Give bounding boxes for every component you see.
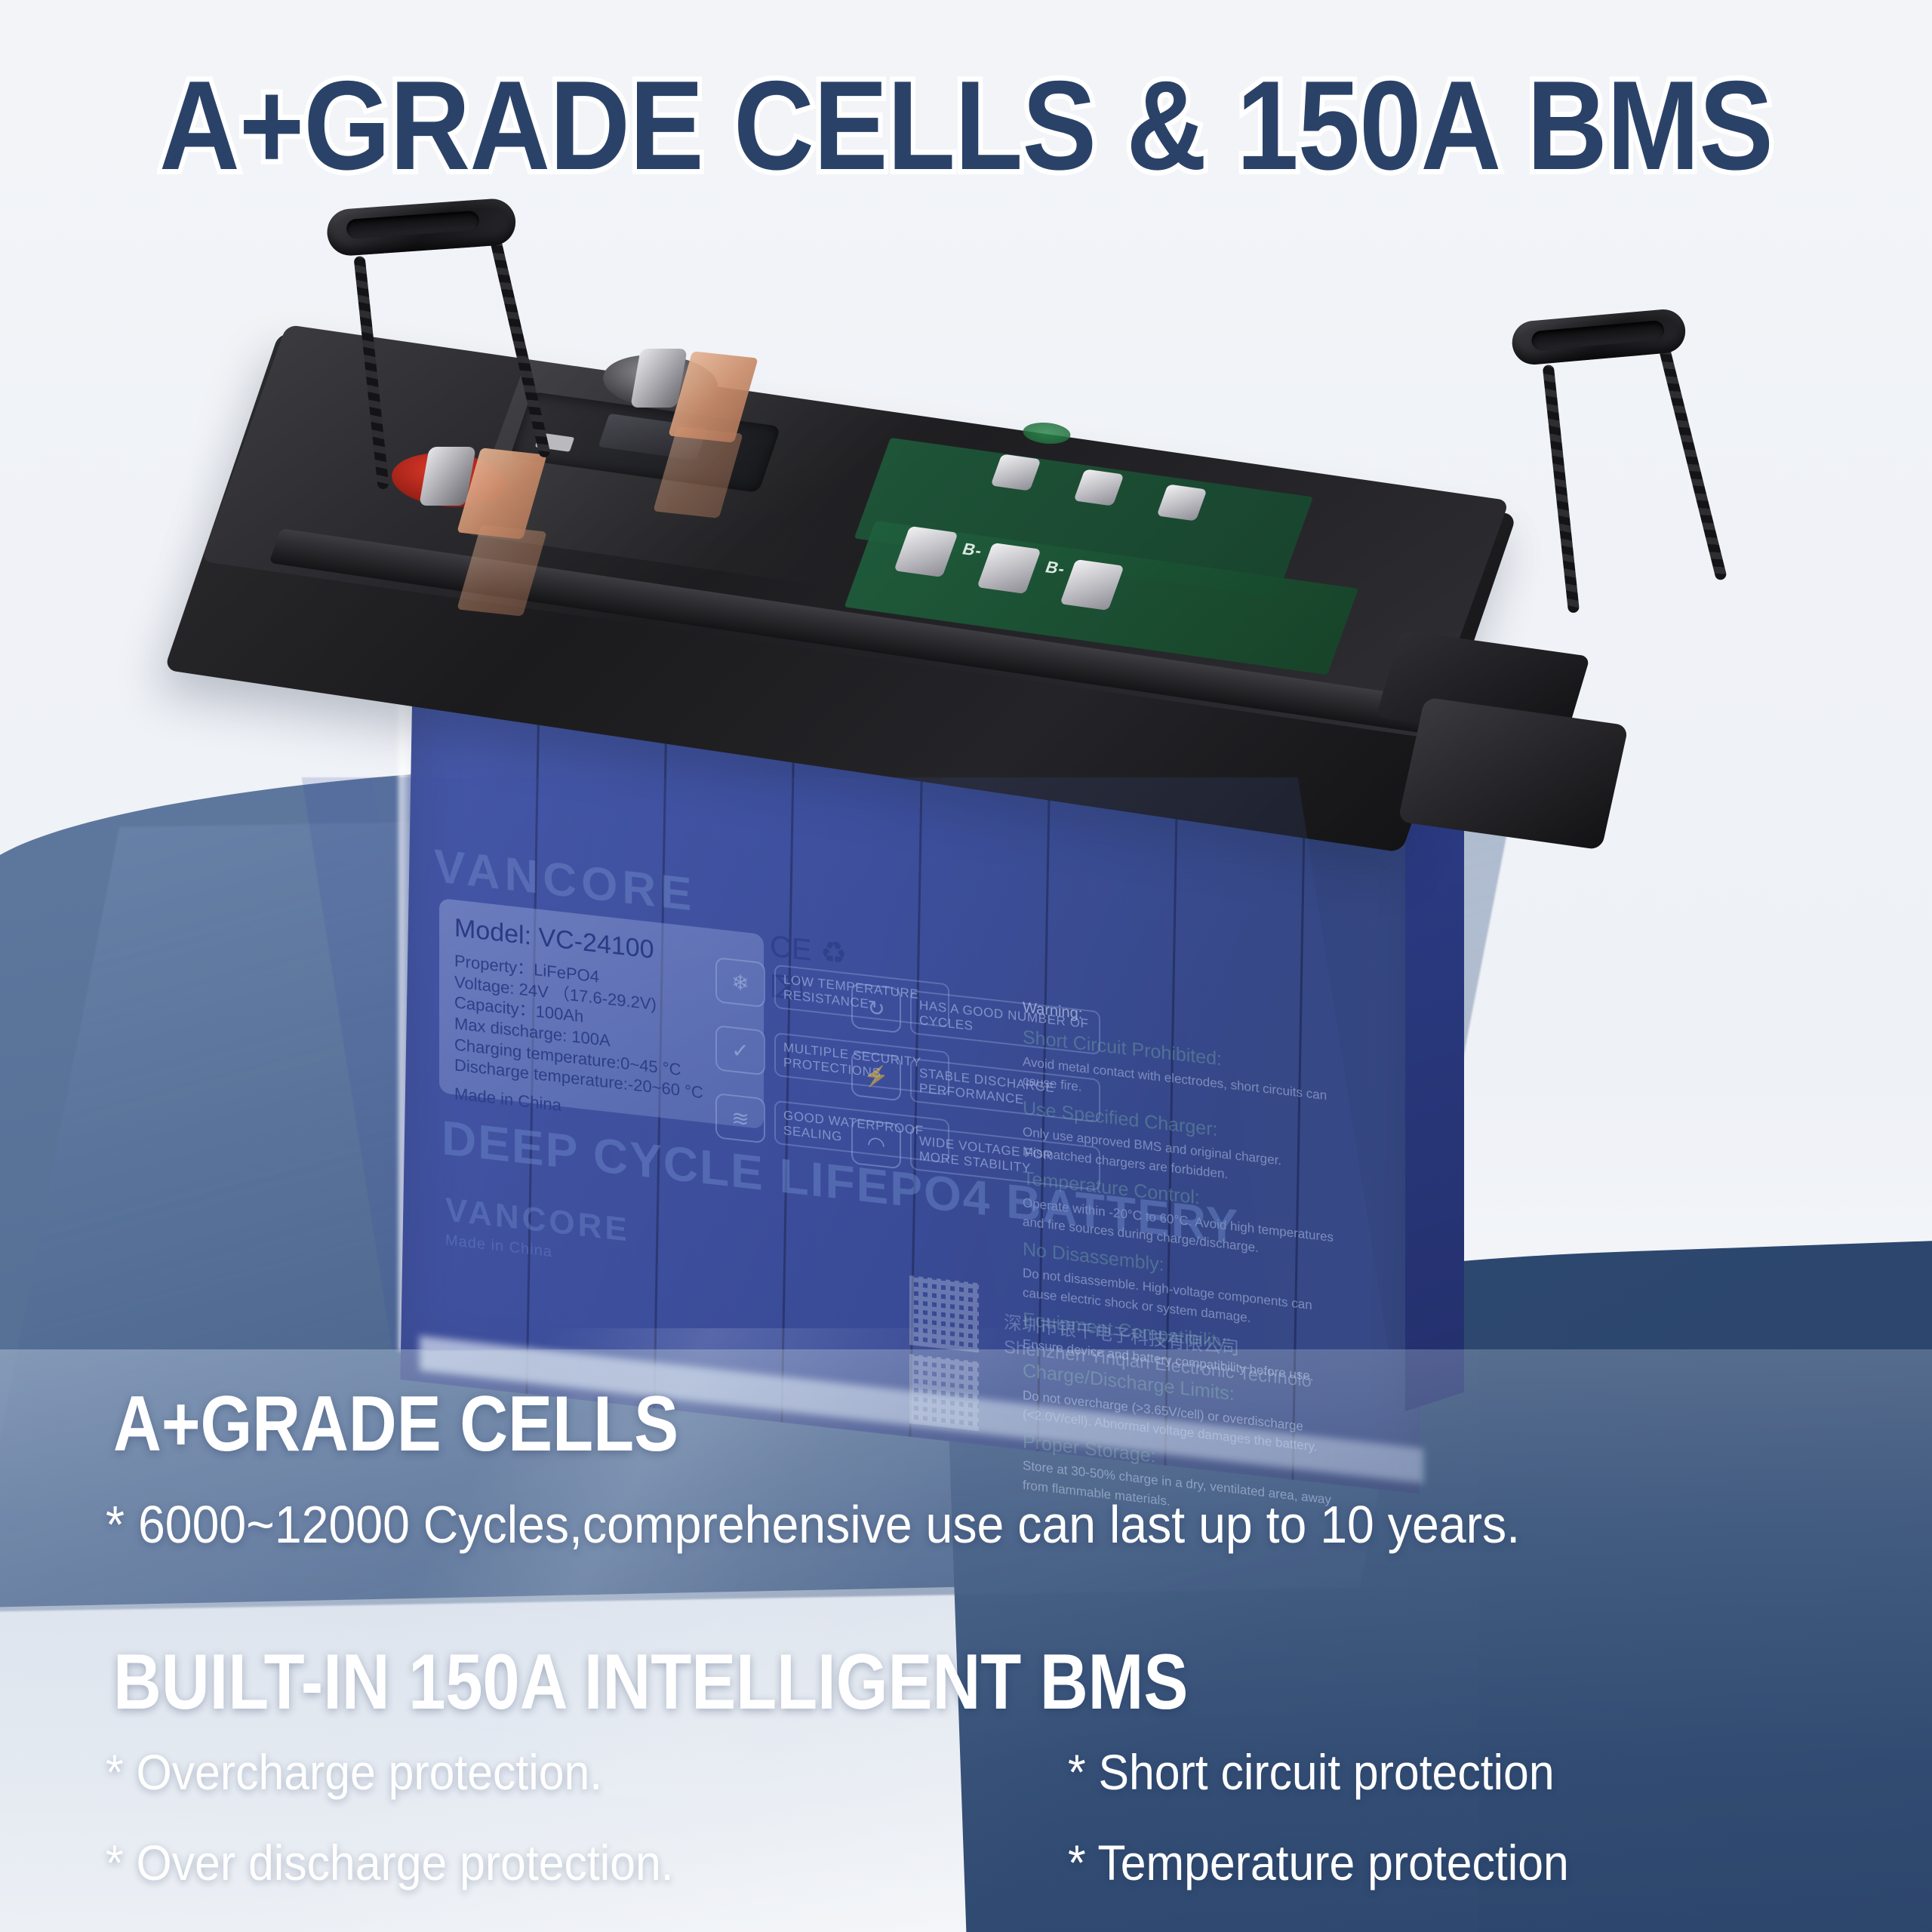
section-bullet-temperature: * Temperature protection <box>1068 1834 1569 1891</box>
section-bullet-short-circuit: * Short circuit protection <box>1068 1743 1555 1801</box>
section-bullet-overcharge: * Overcharge protection. <box>106 1743 602 1801</box>
section-bullet-over-discharge: * Over discharge protection. <box>106 1834 674 1891</box>
infographic-canvas: VANCORE Model: VC-24100 Property：LiFePO4… <box>0 0 1932 1932</box>
page-title: A+GRADE CELLS & 150A BMS <box>116 53 1817 198</box>
section-bullet-cycles: * 6000~12000 Cycles,comprehensive use ca… <box>106 1494 1520 1555</box>
section-heading-built-in-bms: BUILT-IN 150A INTELLIGENT BMS <box>113 1638 1188 1727</box>
section-heading-a-grade-cells: A+GRADE CELLS <box>113 1380 678 1469</box>
floor-plate <box>0 803 1513 1612</box>
